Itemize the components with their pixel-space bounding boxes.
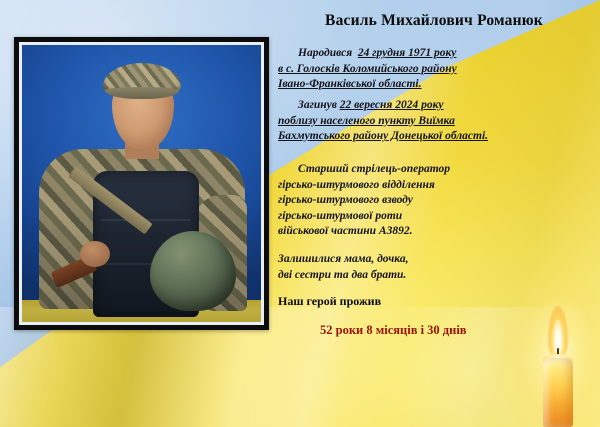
death-line-1: Загинув 22 вересня 2024 року <box>278 98 596 114</box>
photo-frame <box>14 37 269 330</box>
death-line-3: Бахмутського району Донецької області. <box>278 129 596 145</box>
soldier-portrait <box>22 45 261 322</box>
birth-date: 24 грудня 1971 року <box>358 47 457 59</box>
candle-body <box>543 358 573 427</box>
lived-label: Наш герой прожив <box>278 294 381 309</box>
birth-block: Народився 24 грудня 1971 року в с. Голос… <box>278 46 596 93</box>
death-line-2: поблизу населеного пункту Виїмка <box>278 114 596 130</box>
death-date: 22 вересня 2024 року <box>340 99 444 111</box>
role-line-3: гірсько-штурмового взводу <box>278 193 596 209</box>
role-block: Старший стрілець-оператор гірсько-штурмо… <box>278 162 596 240</box>
death-verb: Загинув <box>298 99 337 111</box>
memorial-card: Василь Михайлович Романюк Народився 24 г… <box>0 0 600 427</box>
photo-inner-border <box>19 42 264 325</box>
candle-icon <box>527 300 589 427</box>
role-line-1: Старший стрілець-оператор <box>278 162 596 178</box>
birth-line-3: Івано-Франківської області. <box>278 77 596 93</box>
role-line-2: гірсько-штурмового відділення <box>278 178 596 194</box>
birth-line-1: Народився 24 грудня 1971 року <box>278 46 596 62</box>
birth-verb: Народився <box>298 47 352 59</box>
family-line-1: Залишилися мама, дочка, <box>278 252 596 268</box>
role-line-4: гірсько-штурмової роти <box>278 209 596 225</box>
portrait-vignette <box>22 45 261 322</box>
death-block: Загинув 22 вересня 2024 року поблизу нас… <box>278 98 596 145</box>
hero-name: Василь Михайлович Романюк <box>284 12 584 30</box>
birth-line-2: в с. Голосків Коломийського району <box>278 62 596 78</box>
role-line-5: військової частини А3892. <box>278 224 596 240</box>
lived-duration: 52 роки 8 місяців і 30 днів <box>320 323 467 338</box>
